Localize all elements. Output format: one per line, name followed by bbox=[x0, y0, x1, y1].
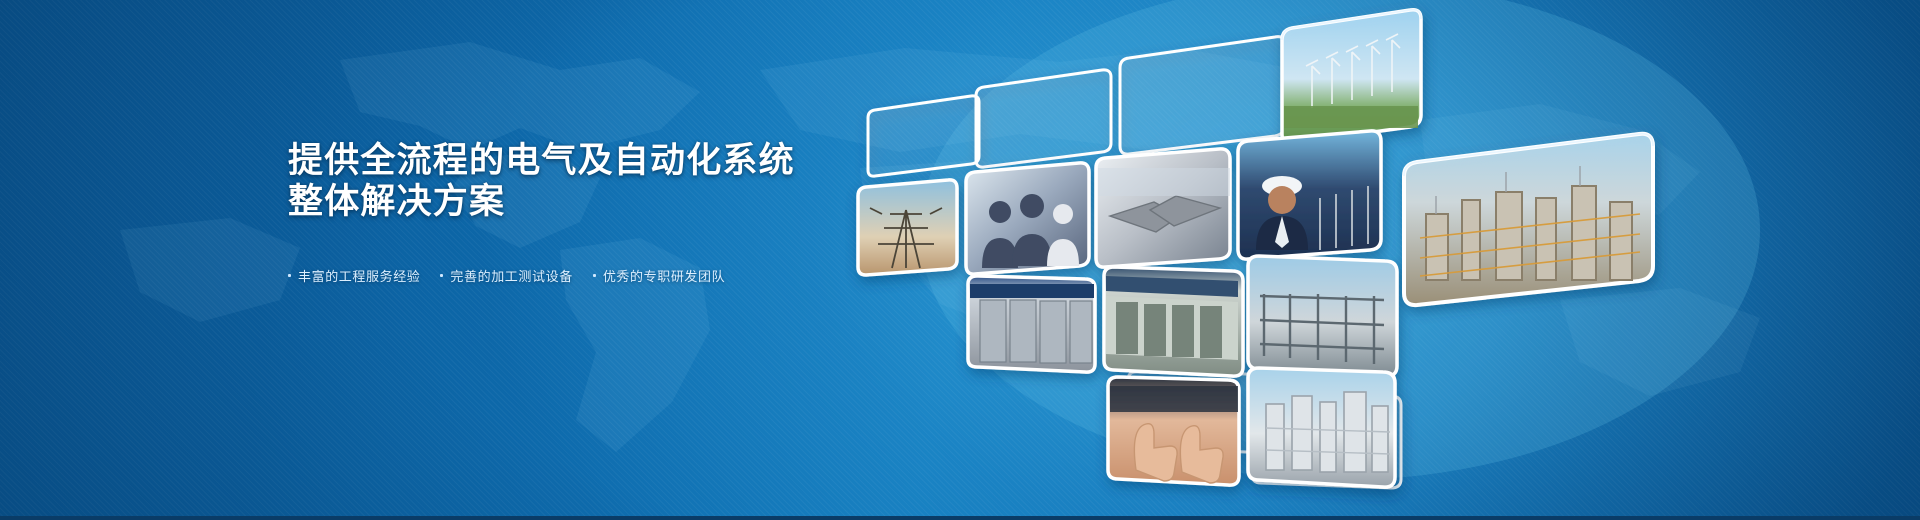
empty-tile-top-left bbox=[868, 96, 979, 176]
feature-bullet-2: 完善的加工测试设备 bbox=[440, 266, 572, 285]
tile-gas-plant bbox=[1248, 368, 1395, 487]
feature-bullet-1-label: 丰富的工程服务经验 bbox=[298, 266, 420, 285]
bullet-dot-icon bbox=[288, 274, 291, 277]
tile-control-cabinets bbox=[968, 276, 1095, 372]
tile-site-engineer bbox=[1238, 131, 1381, 259]
tile-switchgear-room bbox=[1104, 267, 1243, 376]
feature-bullet-1: 丰富的工程服务经验 bbox=[288, 266, 420, 285]
feature-bullet-3: 优秀的专职研发团队 bbox=[593, 266, 725, 285]
tile-handshake bbox=[1096, 149, 1230, 267]
empty-tile-upper-wide bbox=[1120, 37, 1285, 154]
empty-tile-top-mid bbox=[976, 70, 1111, 167]
photo-mosaic bbox=[820, 0, 1920, 520]
tile-transmission-tower bbox=[858, 180, 957, 275]
bullet-dot-icon bbox=[440, 274, 443, 277]
tile-business-team bbox=[966, 163, 1089, 274]
tile-wind-farm bbox=[1282, 10, 1421, 143]
feature-bullet-3-label: 优秀的专职研发团队 bbox=[603, 266, 725, 285]
bottom-accent-bar bbox=[0, 516, 1920, 520]
feature-bullet-2-label: 完善的加工测试设备 bbox=[450, 266, 572, 285]
hero-banner: 提供全流程的电气及自动化系统 整体解决方案 丰富的工程服务经验 完善的加工测试设… bbox=[0, 0, 1920, 520]
bullet-dot-icon bbox=[593, 274, 596, 277]
tile-thumbs-up bbox=[1108, 377, 1239, 485]
tile-steel-structure bbox=[1248, 256, 1397, 376]
